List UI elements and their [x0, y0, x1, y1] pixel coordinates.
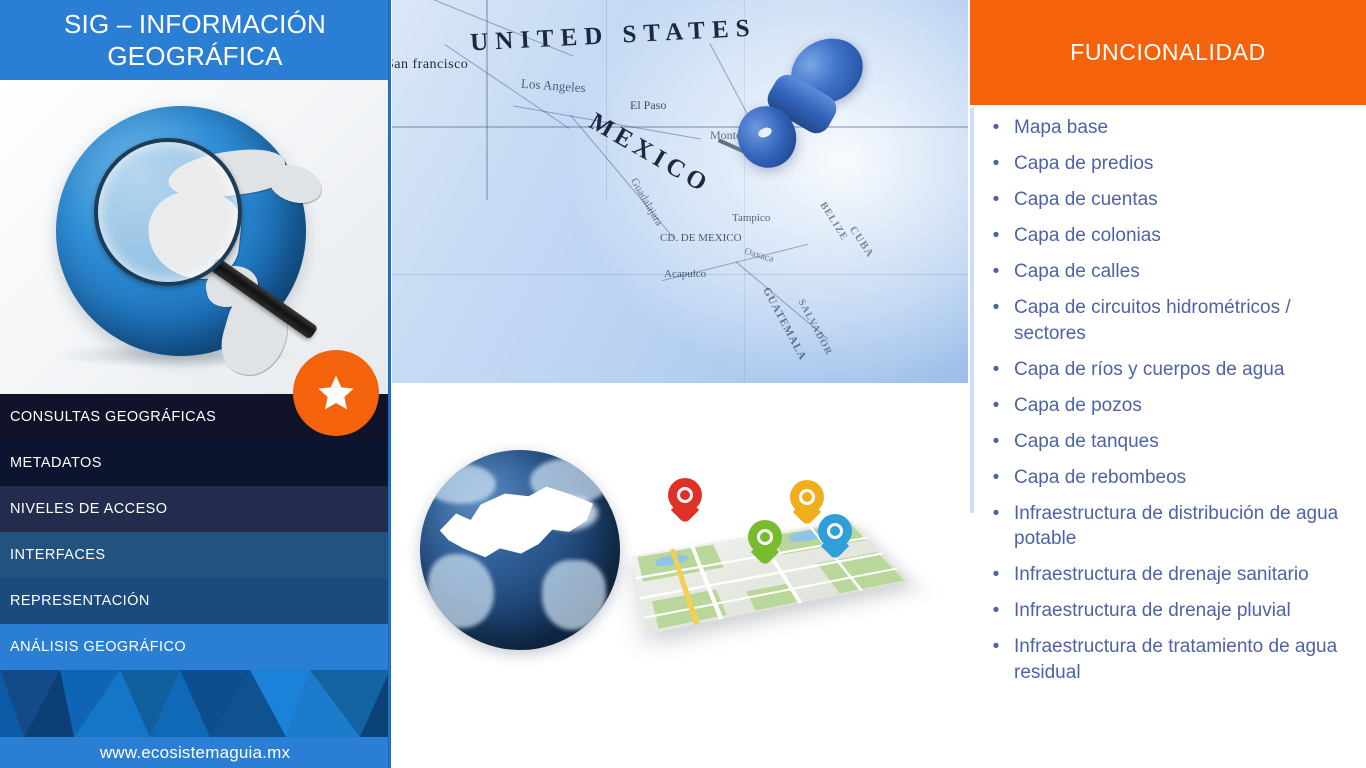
- bullet-icon: •: [978, 223, 1014, 249]
- page-title: SIG – INFORMACIÓN GEOGRÁFICA: [0, 8, 390, 72]
- slide-root: SIG – INFORMACIÓN GEOGRÁFICA CONSULTAS G…: [0, 0, 1366, 768]
- pin-ring: [757, 529, 773, 545]
- bullet-icon: •: [978, 295, 1014, 321]
- bullet-icon: •: [978, 151, 1014, 177]
- bullet-icon: •: [978, 393, 1014, 419]
- map-label-oaxaca: Oaxaca: [743, 246, 775, 265]
- left-panel: SIG – INFORMACIÓN GEOGRÁFICA CONSULTAS G…: [0, 0, 390, 768]
- earth-globe-image: [420, 450, 620, 650]
- footer-url[interactable]: www.ecosistemaguia.mx: [0, 737, 390, 768]
- list-item[interactable]: • Capa de ríos y cuerpos de agua: [978, 357, 1352, 383]
- map-label-cd-de-mexico: CD. DE MEXICO: [660, 232, 742, 244]
- map-label-tampico: Tampico: [732, 212, 770, 224]
- list-item-label: Infraestructura de distribución de agua …: [1014, 501, 1352, 552]
- sidebar-item-representacion[interactable]: REPRESENTACIÓN: [0, 578, 390, 624]
- bullet-icon: •: [978, 634, 1014, 660]
- list-item-label: Capa de cuentas: [1014, 187, 1352, 213]
- sidebar-item-interfaces[interactable]: INTERFACES: [0, 532, 390, 578]
- functionality-list: • Mapa base • Capa de predios • Capa de …: [970, 108, 1366, 696]
- left-panel-divider: [388, 0, 391, 768]
- bullet-icon: •: [978, 115, 1014, 141]
- list-item-label: Capa de calles: [1014, 259, 1352, 285]
- list-item[interactable]: • Infraestructura de drenaje sanitario: [978, 562, 1352, 588]
- pin-ring: [799, 489, 815, 505]
- sidebar-item-metadatos[interactable]: METADATOS: [0, 440, 390, 486]
- right-panel: FUNCIONALIDAD • Mapa base • Capa de pred…: [970, 0, 1366, 768]
- list-item[interactable]: • Capa de rebombeos: [978, 465, 1352, 491]
- list-item[interactable]: • Capa de predios: [978, 151, 1352, 177]
- pin-ring: [827, 523, 843, 539]
- star-badge: [293, 350, 379, 436]
- list-item[interactable]: • Capa de circuitos hidrométricos / sect…: [978, 295, 1352, 346]
- sidebar-item-label: CONSULTAS GEOGRÁFICAS: [10, 409, 216, 425]
- map-pin-green: [748, 520, 782, 564]
- map-label-guatemala: GUATEMALA: [760, 285, 809, 362]
- lowpoly-decoration: [0, 670, 390, 737]
- center-bottom-visuals: [392, 400, 968, 768]
- map-pin-red: [668, 478, 702, 522]
- bullet-icon: •: [978, 501, 1014, 527]
- star-icon: [316, 373, 356, 413]
- list-item[interactable]: • Capa de calles: [978, 259, 1352, 285]
- bullet-icon: •: [978, 259, 1014, 285]
- map-pin-blue: [818, 514, 852, 558]
- map-label-los-angeles: Los Angeles: [521, 76, 587, 96]
- list-item-label: Capa de tanques: [1014, 429, 1352, 455]
- list-item[interactable]: • Infraestructura de tratamiento de agua…: [978, 634, 1352, 685]
- map-label-el-paso: El Paso: [630, 98, 666, 113]
- list-item[interactable]: • Capa de cuentas: [978, 187, 1352, 213]
- list-item-label: Capa de colonias: [1014, 223, 1352, 249]
- bullet-icon: •: [978, 562, 1014, 588]
- sidebar-item-label: INTERFACES: [10, 547, 106, 563]
- list-item[interactable]: • Capa de colonias: [978, 223, 1352, 249]
- list-item-label: Capa de circuitos hidrométricos / sector…: [1014, 295, 1352, 346]
- landmass: [428, 554, 494, 628]
- left-panel-header: SIG – INFORMACIÓN GEOGRÁFICA: [0, 0, 390, 80]
- map-label-guadalajara: Guadalajara: [628, 176, 665, 228]
- paper-map-image: [640, 478, 902, 656]
- list-item-label: Mapa base: [1014, 115, 1352, 141]
- pin-ring: [677, 487, 693, 503]
- bullet-icon: •: [978, 598, 1014, 624]
- center-panel: UNITED STATES San francisco Los Angeles …: [392, 0, 968, 768]
- bullet-icon: •: [978, 429, 1014, 455]
- sidebar-item-niveles-de-acceso[interactable]: NIVELES DE ACCESO: [0, 486, 390, 532]
- map-label-belize: BELIZE: [818, 200, 850, 243]
- right-panel-header: FUNCIONALIDAD: [970, 0, 1366, 105]
- list-item-label: Capa de rebombeos: [1014, 465, 1352, 491]
- bullet-icon: •: [978, 465, 1014, 491]
- list-item[interactable]: • Infraestructura de distribución de agu…: [978, 501, 1352, 552]
- list-item[interactable]: • Capa de pozos: [978, 393, 1352, 419]
- list-item-label: Capa de pozos: [1014, 393, 1352, 419]
- bullet-icon: •: [978, 187, 1014, 213]
- sidebar-item-label: METADATOS: [10, 455, 102, 471]
- list-item-label: Infraestructura de tratamiento de agua r…: [1014, 634, 1352, 685]
- list-item[interactable]: • Mapa base: [978, 115, 1352, 141]
- sidebar-item-label: ANÁLISIS GEOGRÁFICO: [10, 639, 186, 655]
- bullet-icon: •: [978, 357, 1014, 383]
- list-item-label: Infraestructura de drenaje sanitario: [1014, 562, 1352, 588]
- map-label-san-francisco: San francisco: [392, 57, 468, 73]
- magnifier-lens-icon: [94, 138, 242, 286]
- pushpin-icon: [730, 28, 890, 198]
- sidebar-item-label: NIVELES DE ACCESO: [10, 501, 168, 517]
- functionality-title: FUNCIONALIDAD: [1070, 39, 1266, 66]
- sidebar-item-label: REPRESENTACIÓN: [10, 593, 150, 609]
- list-item-label: Infraestructura de drenaje pluvial: [1014, 598, 1352, 624]
- list-item-label: Capa de ríos y cuerpos de agua: [1014, 357, 1352, 383]
- list-item[interactable]: • Infraestructura de drenaje pluvial: [978, 598, 1352, 624]
- map-label-acapulco: Acapulco: [664, 268, 706, 280]
- sidebar-item-analisis-geografico[interactable]: ANÁLISIS GEOGRÁFICO: [0, 624, 390, 670]
- landmass: [542, 560, 606, 630]
- list-item-label: Capa de predios: [1014, 151, 1352, 177]
- map-photograph: UNITED STATES San francisco Los Angeles …: [392, 0, 968, 383]
- lowpoly-triangles: [0, 670, 390, 737]
- map-label-cuba: CUBA: [847, 224, 877, 260]
- list-item[interactable]: • Capa de tanques: [978, 429, 1352, 455]
- globe-magnifier-image: [0, 80, 390, 394]
- landmass: [426, 464, 496, 504]
- footer-url-label: www.ecosistemaguia.mx: [100, 743, 290, 763]
